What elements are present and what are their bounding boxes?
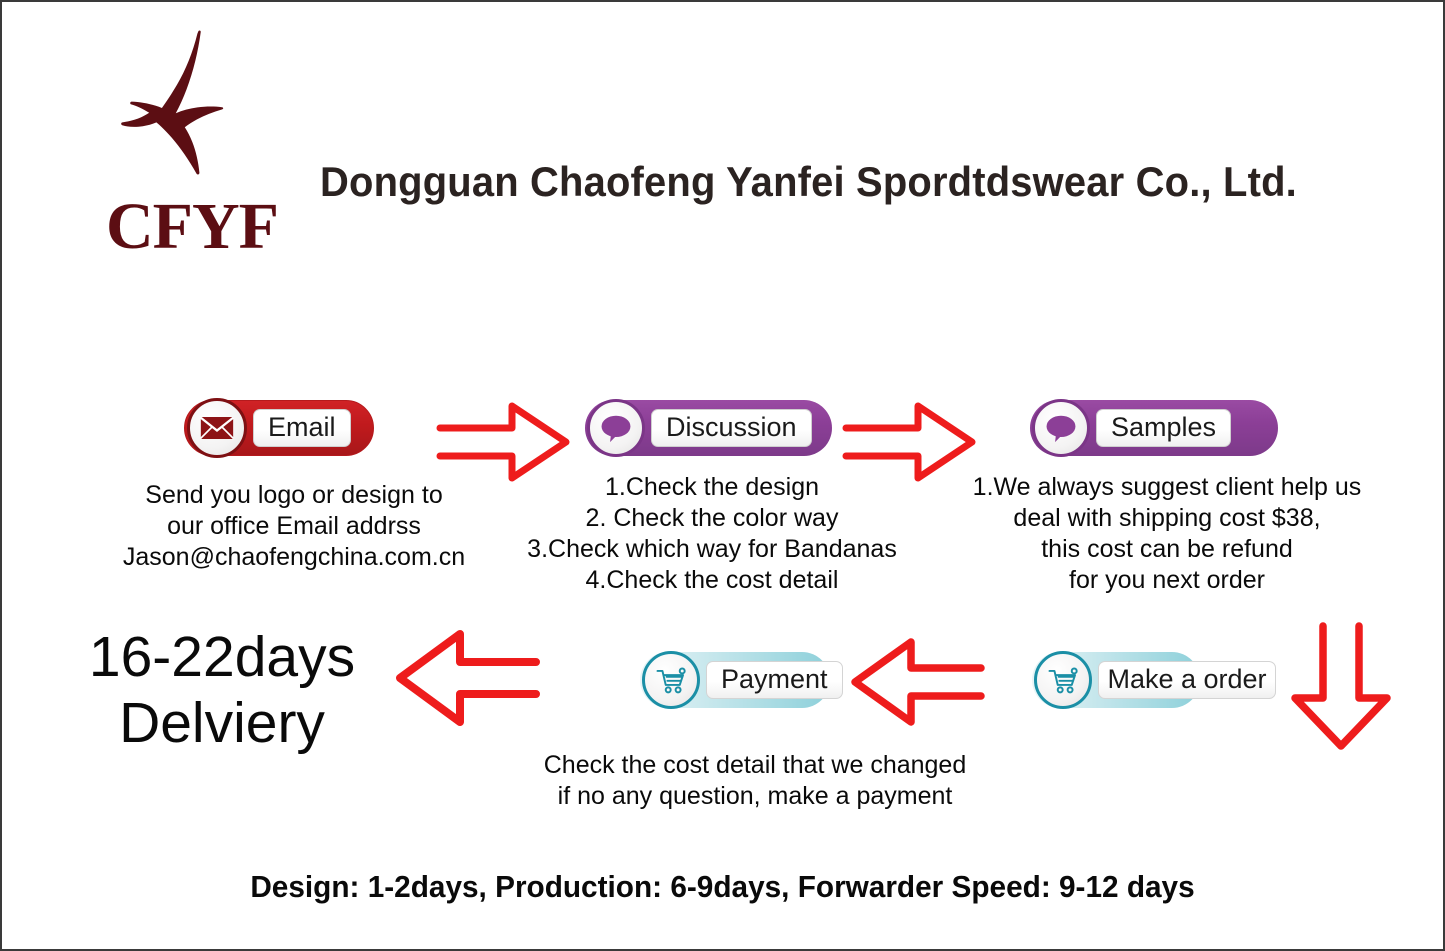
step-button-samples[interactable]: Samples: [1030, 400, 1278, 456]
logo-wordmark: CFYF: [106, 194, 278, 260]
shopping-cart-icon: [642, 651, 700, 709]
shopping-cart-icon: [1034, 651, 1092, 709]
footer-summary: Design: 1-2days, Production: 6-9days, Fo…: [31, 868, 1414, 906]
arrow-make-a-order-to-payment-icon: [847, 636, 987, 728]
step-label-plate-payment: Payment: [706, 661, 843, 699]
arrow-payment-to-delivery-icon: [392, 628, 542, 728]
step-label-payment: Payment: [721, 664, 828, 694]
step-label-discussion: Discussion: [666, 412, 797, 442]
speech-bubble-icon: [1032, 399, 1090, 457]
header: CFYF Dongguan Chaofeng Yanfei Spordtdswe…: [2, 2, 1443, 292]
arrow-samples-to-make-a-order-icon: [1285, 620, 1397, 752]
step-label-make-a-order: Make a order: [1107, 664, 1266, 694]
step-button-payment[interactable]: Payment: [640, 652, 830, 708]
step-button-discussion[interactable]: Discussion: [585, 400, 832, 456]
step-label-plate-discussion: Discussion: [651, 409, 812, 447]
step-label-plate-email: Email: [253, 409, 351, 447]
envelope-icon: [187, 398, 247, 458]
swallow-bird-logo-icon: [102, 27, 302, 192]
step-label-email: Email: [268, 412, 336, 442]
process-flow-poster: CFYF Dongguan Chaofeng Yanfei Spordtdswe…: [0, 0, 1445, 951]
company-title: Dongguan Chaofeng Yanfei Spordtdswear Co…: [320, 158, 1297, 206]
step-label-plate-make-a-order: Make a order: [1098, 661, 1276, 699]
step-description-payment: Check the cost detail that we changed if…: [510, 750, 1000, 812]
step-button-email[interactable]: Email: [184, 400, 374, 456]
step-button-make-a-order[interactable]: Make a order: [1032, 652, 1200, 708]
speech-bubble-icon: [587, 399, 645, 457]
step-label-samples: Samples: [1111, 412, 1216, 442]
step-description-discussion: 1.Check the design 2. Check the color wa…: [522, 472, 902, 596]
step-description-email: Send you logo or design to our office Em…: [94, 480, 494, 573]
step-description-samples: 1.We always suggest client help us deal …: [952, 472, 1382, 596]
step-label-plate-samples: Samples: [1096, 409, 1231, 447]
delivery-time-text: 16-22days Delviery: [42, 624, 402, 756]
